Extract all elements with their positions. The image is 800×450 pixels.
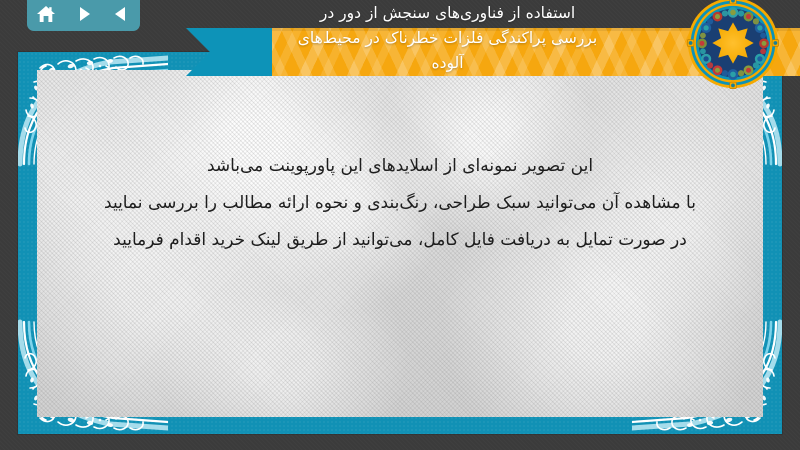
circular-medallion-ornament	[686, 0, 780, 90]
ribbon-tail-teal	[186, 28, 278, 76]
triangle-right-icon	[75, 5, 93, 23]
slide-preview-stage: این تصویر نمونه‌ای از اسلایدهای این پاور…	[0, 0, 800, 450]
previous-slide-button[interactable]	[107, 1, 135, 27]
next-slide-button[interactable]	[70, 1, 98, 27]
home-icon	[36, 5, 56, 24]
body-line-2: با مشاهده آن می‌توانید سبک طراحی، رنگ‌بن…	[69, 185, 731, 222]
triangle-left-icon	[112, 5, 130, 23]
body-line-3: در صورت تمایل به دریافت فایل کامل، می‌تو…	[69, 222, 731, 259]
body-line-1: این تصویر نمونه‌ای از اسلایدهای این پاور…	[69, 148, 731, 185]
slide-content-area: این تصویر نمونه‌ای از اسلایدهای این پاور…	[37, 70, 763, 417]
navigation-bar	[27, 0, 140, 31]
slide-body-text: این تصویر نمونه‌ای از اسلایدهای این پاور…	[69, 148, 731, 259]
slide-card: این تصویر نمونه‌ای از اسلایدهای این پاور…	[18, 52, 782, 434]
home-button[interactable]	[32, 1, 60, 27]
